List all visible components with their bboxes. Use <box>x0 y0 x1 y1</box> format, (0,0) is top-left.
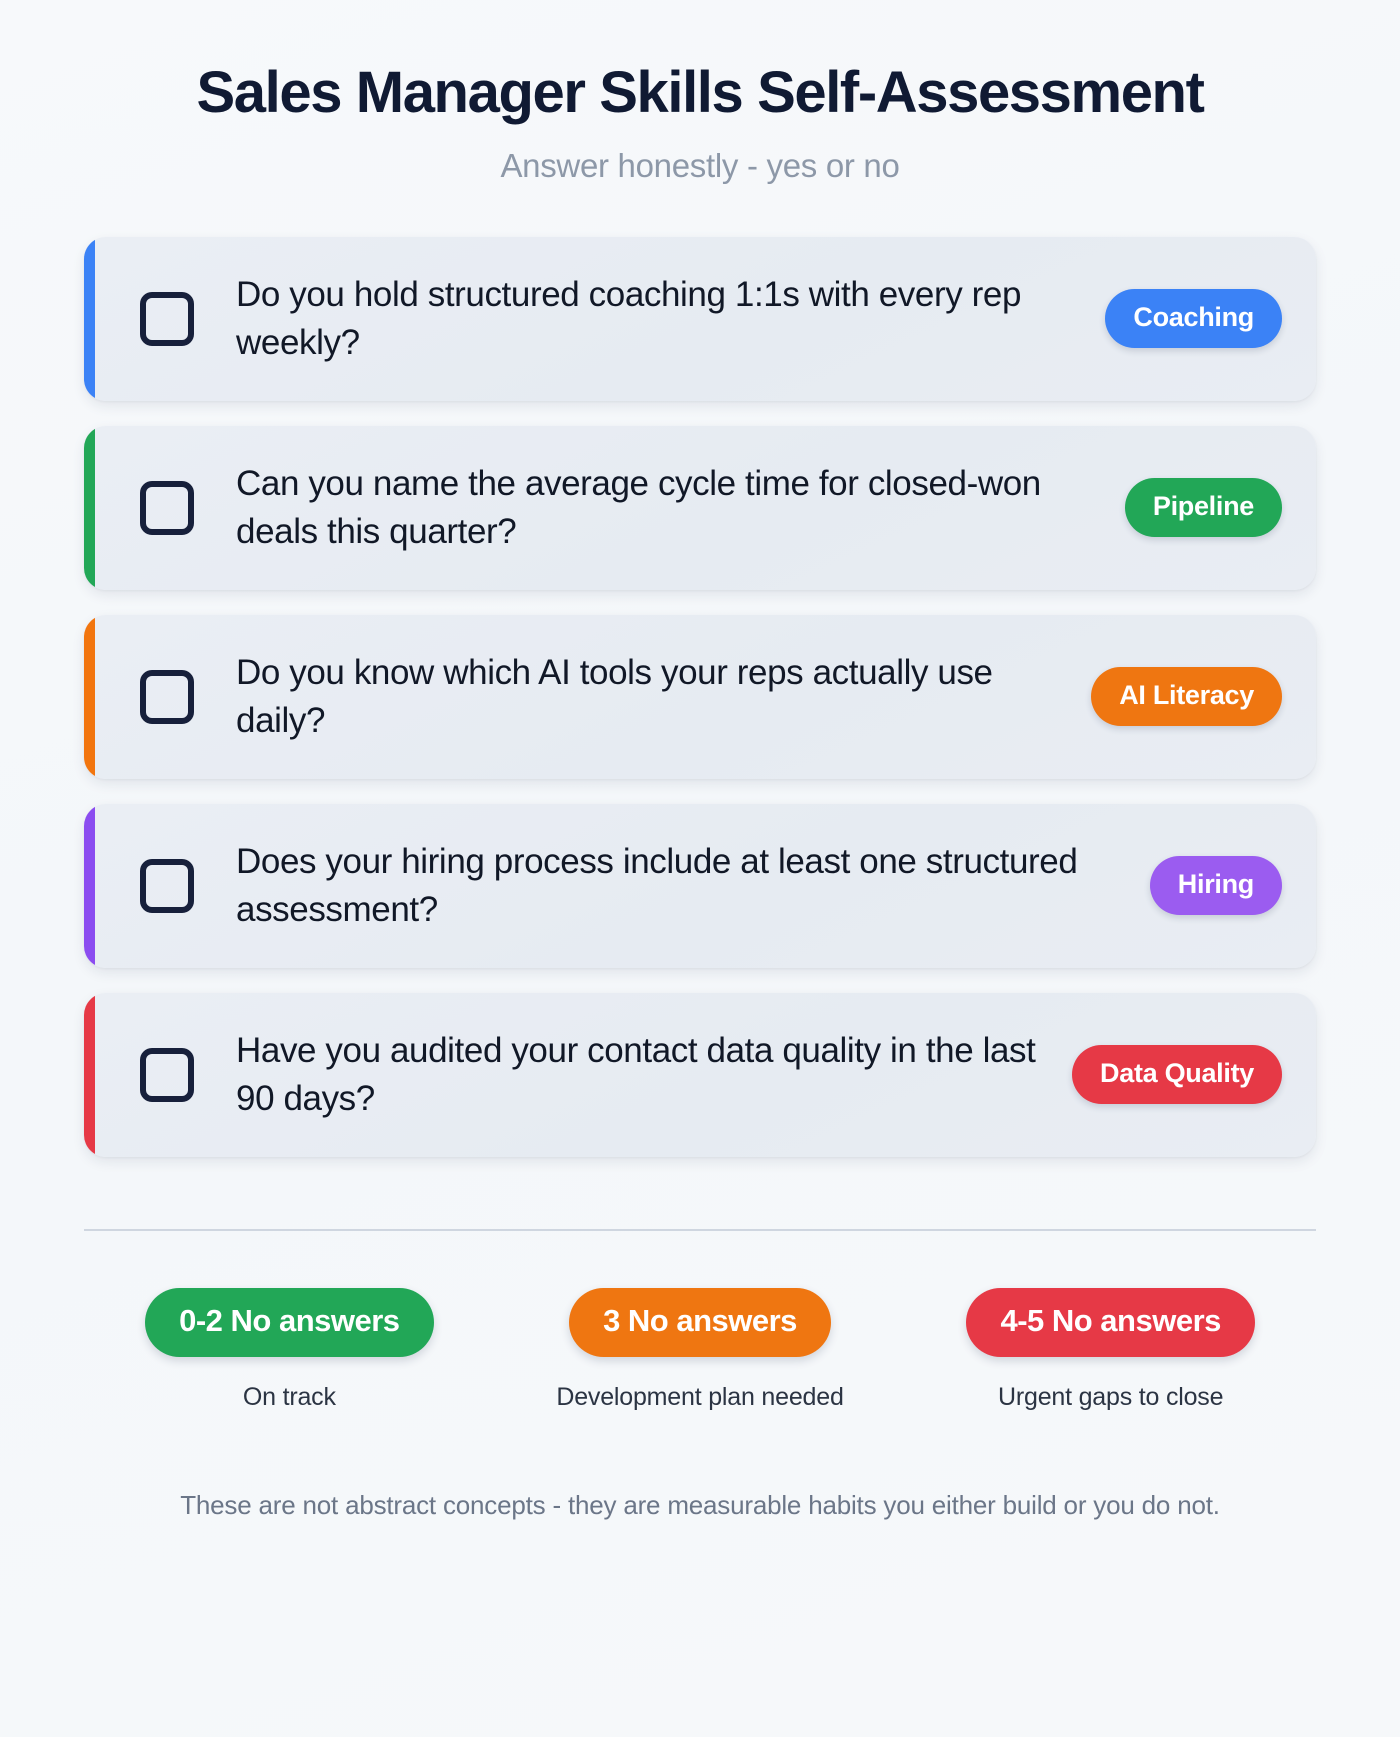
question-card[interactable]: Have you audited your contact data quali… <box>84 993 1316 1157</box>
legend-pill: 3 No answers <box>569 1288 831 1357</box>
legend-pill: 4-5 No answers <box>966 1288 1254 1357</box>
assessment-page: Sales Manager Skills Self-Assessment Ans… <box>0 0 1400 1737</box>
page-title: Sales Manager Skills Self-Assessment <box>84 62 1316 125</box>
question-checkbox[interactable] <box>140 1048 194 1102</box>
question-card[interactable]: Do you hold structured coaching 1:1s wit… <box>84 237 1316 401</box>
legend-item: 4-5 No answers Urgent gaps to close <box>905 1288 1316 1412</box>
footer-note: These are not abstract concepts - they a… <box>84 1490 1316 1521</box>
legend-caption: Urgent gaps to close <box>998 1383 1223 1412</box>
accent-bar <box>84 615 95 779</box>
legend-pill: 0-2 No answers <box>145 1288 433 1357</box>
question-text: Have you audited your contact data quali… <box>236 1027 1054 1122</box>
accent-bar <box>84 993 95 1157</box>
category-badge: Pipeline <box>1125 478 1282 537</box>
category-badge: AI Literacy <box>1091 667 1282 726</box>
category-badge: Data Quality <box>1072 1045 1282 1104</box>
question-list: Do you hold structured coaching 1:1s wit… <box>84 237 1316 1157</box>
page-subtitle: Answer honestly - yes or no <box>84 147 1316 185</box>
accent-bar <box>84 426 95 590</box>
question-text: Do you hold structured coaching 1:1s wit… <box>236 271 1087 366</box>
legend-caption: On track <box>243 1383 336 1412</box>
question-checkbox[interactable] <box>140 481 194 535</box>
question-text: Does your hiring process include at leas… <box>236 838 1132 933</box>
page-header: Sales Manager Skills Self-Assessment Ans… <box>84 62 1316 185</box>
legend-caption: Development plan needed <box>556 1383 843 1412</box>
question-card[interactable]: Can you name the average cycle time for … <box>84 426 1316 590</box>
question-text: Can you name the average cycle time for … <box>236 460 1107 555</box>
score-legend: 0-2 No answers On track 3 No answers Dev… <box>84 1288 1316 1412</box>
category-badge: Coaching <box>1105 289 1282 348</box>
question-text: Do you know which AI tools your reps act… <box>236 649 1073 744</box>
section-divider <box>84 1229 1316 1231</box>
accent-bar <box>84 804 95 968</box>
question-checkbox[interactable] <box>140 670 194 724</box>
question-card[interactable]: Do you know which AI tools your reps act… <box>84 615 1316 779</box>
question-card[interactable]: Does your hiring process include at leas… <box>84 804 1316 968</box>
category-badge: Hiring <box>1150 856 1282 915</box>
legend-item: 3 No answers Development plan needed <box>495 1288 906 1412</box>
question-checkbox[interactable] <box>140 859 194 913</box>
accent-bar <box>84 237 95 401</box>
question-checkbox[interactable] <box>140 292 194 346</box>
legend-item: 0-2 No answers On track <box>84 1288 495 1412</box>
